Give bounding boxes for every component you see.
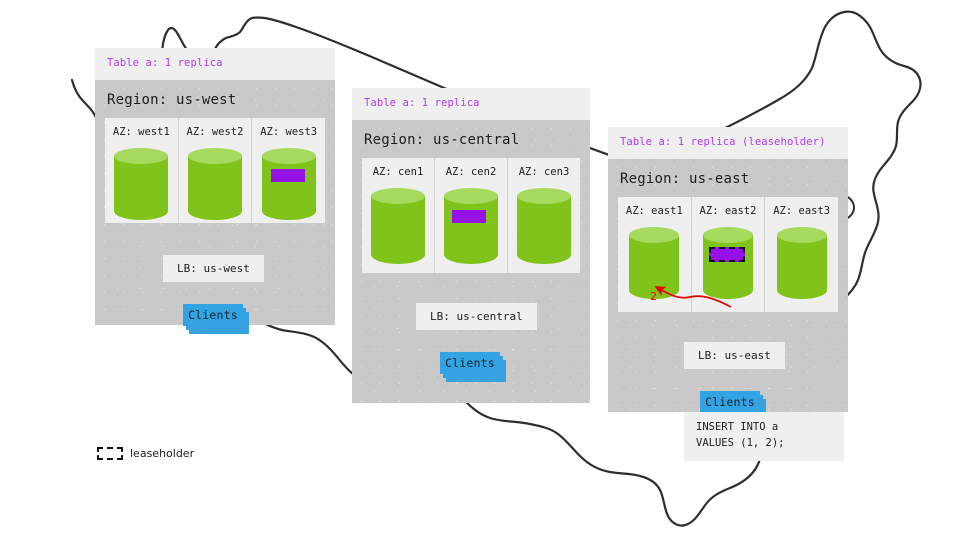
region-header-us-central: Table a: 1 replica <box>352 88 590 120</box>
node-cylinder-west2[interactable] <box>188 148 242 211</box>
sql-statement-note: INSERT INTO a VALUES (1, 2); <box>684 412 844 461</box>
az-cell-east2[interactable]: AZ: east2 <box>692 197 766 312</box>
az-cell-cen1[interactable]: AZ: cen1 <box>362 158 435 273</box>
az-cell-cen2[interactable]: AZ: cen2 <box>435 158 508 273</box>
replica-badge-label: Table a: 1 replica (leaseholder) <box>620 136 826 148</box>
node-cylinder-cen1[interactable] <box>371 188 425 261</box>
legend-label: leaseholder <box>130 447 194 460</box>
node-cylinder-west1[interactable] <box>114 148 168 211</box>
region-panel-us-west: Table a: 1 replica Region: us-west AZ: w… <box>95 48 335 325</box>
region-panel-us-central: Table a: 1 replica Region: us-central AZ… <box>352 88 590 403</box>
clients-label: Clients <box>440 352 500 374</box>
load-balancer-us-east[interactable]: LB: us-east <box>684 342 785 369</box>
az-cell-east3[interactable]: AZ: east3 <box>765 197 838 312</box>
replica-badge-label: Table a: 1 replica <box>107 57 223 69</box>
node-cylinder-east2[interactable] <box>703 227 753 299</box>
az-cell-west3[interactable]: AZ: west3 <box>252 118 325 223</box>
load-balancer-us-west[interactable]: LB: us-west <box>163 255 264 282</box>
node-cylinder-west3[interactable] <box>262 148 316 211</box>
az-label: AZ: west3 <box>260 126 317 138</box>
node-cylinder-east1[interactable] <box>629 227 679 299</box>
replica-marker-west3 <box>271 169 305 182</box>
az-label: AZ: east3 <box>773 205 830 217</box>
region-panel-us-east: Table a: 1 replica (leaseholder) Region:… <box>608 127 848 412</box>
region-body-us-west: Region: us-west AZ: west1 AZ: west2 <box>95 80 335 325</box>
node-cylinder-cen3[interactable] <box>517 188 571 261</box>
region-title: Region: us-east <box>608 159 848 197</box>
node-cylinder-east3[interactable] <box>777 227 827 299</box>
replica-marker-east2-leaseholder <box>709 247 745 262</box>
dashed-rect-icon <box>97 447 123 460</box>
az-label: AZ: west2 <box>187 126 244 138</box>
az-label: AZ: cen3 <box>519 166 570 178</box>
load-balancer-us-central[interactable]: LB: us-central <box>416 303 537 330</box>
az-cell-west1[interactable]: AZ: west1 <box>105 118 179 223</box>
az-label: AZ: east2 <box>700 205 757 217</box>
replica-badge-label: Table a: 1 replica <box>364 97 480 109</box>
region-title: Region: us-central <box>352 120 590 158</box>
replica-marker-cen2 <box>452 210 486 223</box>
region-header-us-east: Table a: 1 replica (leaseholder) <box>608 127 848 159</box>
az-row-us-west: AZ: west1 AZ: west2 AZ: west3 <box>105 118 325 223</box>
az-label: AZ: east1 <box>626 205 683 217</box>
az-row-us-central: AZ: cen1 AZ: cen2 AZ: cen3 <box>362 158 580 273</box>
arrow-step-label: 2 <box>650 290 657 303</box>
legend: leaseholder <box>97 447 194 460</box>
clients-stack-us-west[interactable]: Clients <box>183 304 253 338</box>
az-cell-west2[interactable]: AZ: west2 <box>179 118 253 223</box>
region-body-us-east: Region: us-east AZ: east1 AZ: east2 <box>608 159 848 412</box>
region-header-us-west: Table a: 1 replica <box>95 48 335 80</box>
clients-label: Clients <box>700 391 760 413</box>
az-label: AZ: cen2 <box>446 166 497 178</box>
diagram-canvas: Table a: 1 replica Region: us-west AZ: w… <box>0 0 960 540</box>
node-cylinder-cen2[interactable] <box>444 188 498 261</box>
region-body-us-central: Region: us-central AZ: cen1 AZ: cen2 <box>352 120 590 403</box>
az-cell-cen3[interactable]: AZ: cen3 <box>508 158 580 273</box>
az-label: AZ: cen1 <box>373 166 424 178</box>
clients-stack-us-central[interactable]: Clients <box>440 352 510 386</box>
region-title: Region: us-west <box>95 80 335 118</box>
clients-label: Clients <box>183 304 243 326</box>
az-label: AZ: west1 <box>113 126 170 138</box>
